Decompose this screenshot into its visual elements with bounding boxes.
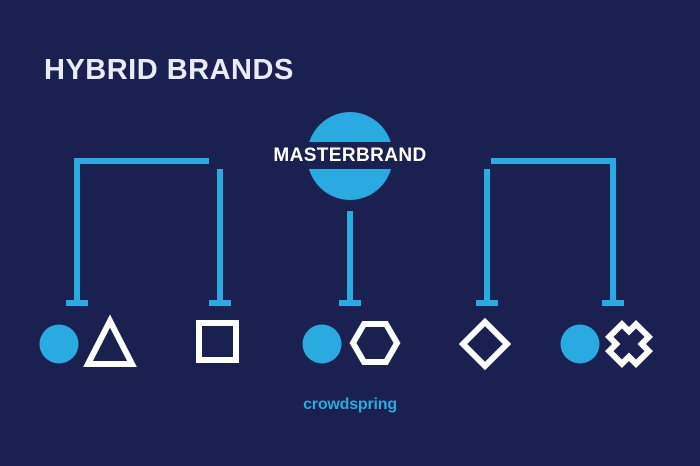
hybrid-brands-diagram: HYBRID BRANDS [0,0,700,466]
shape-circle-filled [303,325,342,364]
subbrand-group-square-single [199,323,236,360]
shape-circle-filled [40,325,79,364]
shape-diamond-outline [463,322,507,366]
brandmark: crowdspring [0,396,700,414]
shape-hexagon-outline [353,324,397,362]
shape-square-outline [199,323,236,360]
masterbrand-label-band: MASTERBRAND [209,142,491,169]
shape-circle-filled [561,325,600,364]
subbrand-group-circle-hexagon-pair [303,324,398,364]
shape-cross-outline [602,317,656,371]
subbrand-group-circle-cross-pair [561,317,656,371]
subbrand-group-diamond-single [463,322,507,366]
shape-triangle-outline [88,321,132,364]
masterbrand-node: MASTERBRAND [307,112,393,200]
brandmark-text: crowdspring [303,396,397,413]
masterbrand-label: MASTERBRAND [273,145,426,167]
subbrand-group-circle-triangle-pair [40,321,133,364]
